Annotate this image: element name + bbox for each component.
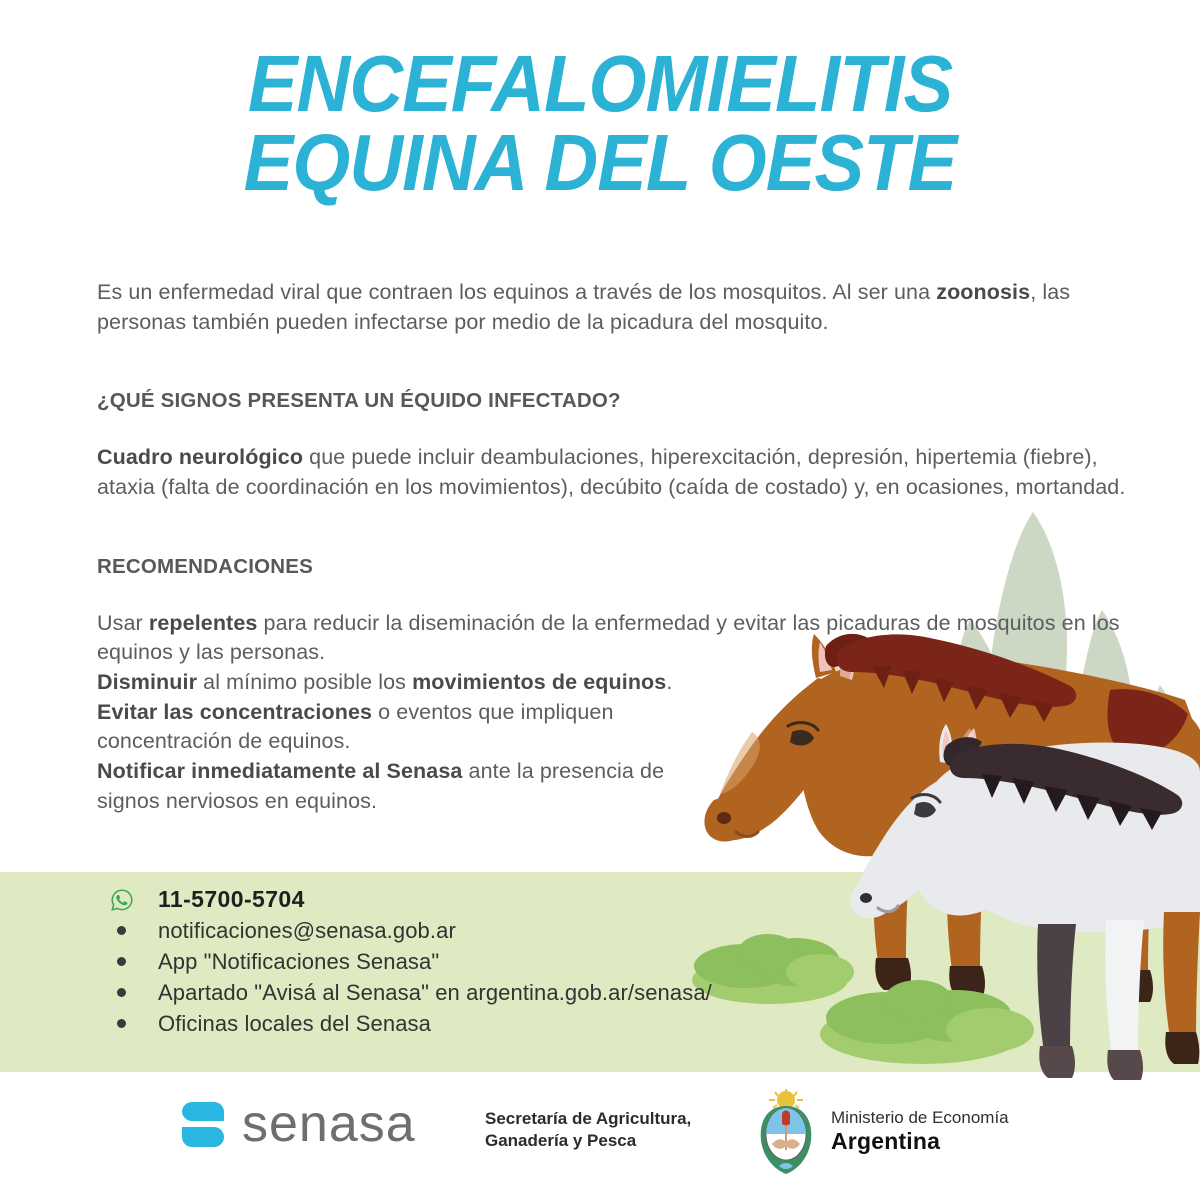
contact-row-phone[interactable]: 11-5700-5704 [110, 884, 810, 915]
argentina-logo: Ministerio de Economía Argentina [755, 1088, 1009, 1176]
contact-row-email[interactable]: notificaciones@senasa.gob.ar [110, 915, 810, 946]
contact-list: 11-5700-5704 notificaciones@senasa.gob.a… [110, 884, 810, 1039]
recommendation-item: Notificar inmediatamente al Senasa ante … [97, 757, 697, 816]
contact-row-website[interactable]: Apartado "Avisá al Senasa" en argentina.… [110, 977, 810, 1008]
bullet-icon [110, 926, 158, 935]
title-line-2: EQUINA DEL OESTE [42, 123, 1158, 202]
contact-app[interactable]: App "Notificaciones Senasa" [158, 949, 439, 975]
bullet-icon [110, 988, 158, 997]
recommendations-heading: RECOMENDACIONES [97, 555, 1127, 579]
ministerio-label: Ministerio de Economía [831, 1108, 1009, 1128]
recommendation-item: Disminuir al mínimo posible los movimien… [97, 668, 1127, 698]
contact-offices[interactable]: Oficinas locales del Senasa [158, 1011, 431, 1037]
poster-footer: senasa Secretaría de Agricultura, Ganade… [0, 1080, 1200, 1188]
contact-website[interactable]: Apartado "Avisá al Senasa" en argentina.… [158, 980, 712, 1006]
spacer [97, 503, 1127, 555]
whatsapp-icon [110, 888, 158, 912]
secretaria-line-2: Ganadería y Pesca [485, 1130, 691, 1152]
contact-email[interactable]: notificaciones@senasa.gob.ar [158, 918, 456, 944]
spacer [97, 579, 1127, 609]
bullet-icon [110, 1019, 158, 1028]
recommendation-item: Usar repelentes para reducir la disemina… [97, 609, 1127, 668]
senasa-wordmark: senasa [242, 1098, 416, 1150]
signs-paragraph: Cuadro neurológico que puede incluir dea… [97, 443, 1127, 502]
rec-post: . [666, 670, 672, 694]
secretaria-label: Secretaría de Agricultura, Ganadería y P… [485, 1108, 691, 1152]
pais-label: Argentina [831, 1128, 1009, 1156]
rec-bold: Notificar inmediatamente al Senasa [97, 759, 462, 783]
contact-row-offices[interactable]: Oficinas locales del Senasa [110, 1008, 810, 1039]
bullet-icon [110, 957, 158, 966]
poster-title: ENCEFALOMIELITIS EQUINA DEL OESTE [0, 44, 1200, 202]
rec-pre: Usar [97, 611, 149, 635]
rec-mid: al mínimo posible los [197, 670, 412, 694]
argentina-text: Ministerio de Economía Argentina [831, 1108, 1009, 1156]
spacer [97, 413, 1127, 443]
contact-row-app[interactable]: App "Notificaciones Senasa" [110, 946, 810, 977]
title-line-1: ENCEFALOMIELITIS [42, 44, 1158, 123]
signs-bold: Cuadro neurológico [97, 445, 303, 469]
poster-canvas: ENCEFALOMIELITIS EQUINA DEL OESTE Es un … [0, 0, 1200, 1188]
rec-bold: repelentes [149, 611, 258, 635]
signs-heading: ¿QUÉ SIGNOS PRESENTA UN ÉQUIDO INFECTADO… [97, 389, 1127, 413]
rec-bold: Evitar las concentraciones [97, 700, 372, 724]
rec-bold: Disminuir [97, 670, 197, 694]
spacer [97, 337, 1127, 389]
phone-number[interactable]: 11-5700-5704 [158, 886, 305, 913]
rec-bold-2: movimientos de equinos [412, 670, 666, 694]
recommendation-item: Evitar las concentraciones o eventos que… [97, 698, 697, 757]
intro-bold: zoonosis [936, 280, 1030, 304]
secretaria-line-1: Secretaría de Agricultura, [485, 1108, 691, 1130]
argentina-coat-of-arms-icon [755, 1088, 817, 1176]
intro-paragraph: Es un enfermedad viral que contraen los … [97, 278, 1127, 337]
poster-body: Es un enfermedad viral que contraen los … [97, 278, 1127, 816]
senasa-logo: senasa [180, 1098, 416, 1150]
intro-before: Es un enfermedad viral que contraen los … [97, 280, 936, 304]
senasa-mark-icon [180, 1100, 226, 1148]
